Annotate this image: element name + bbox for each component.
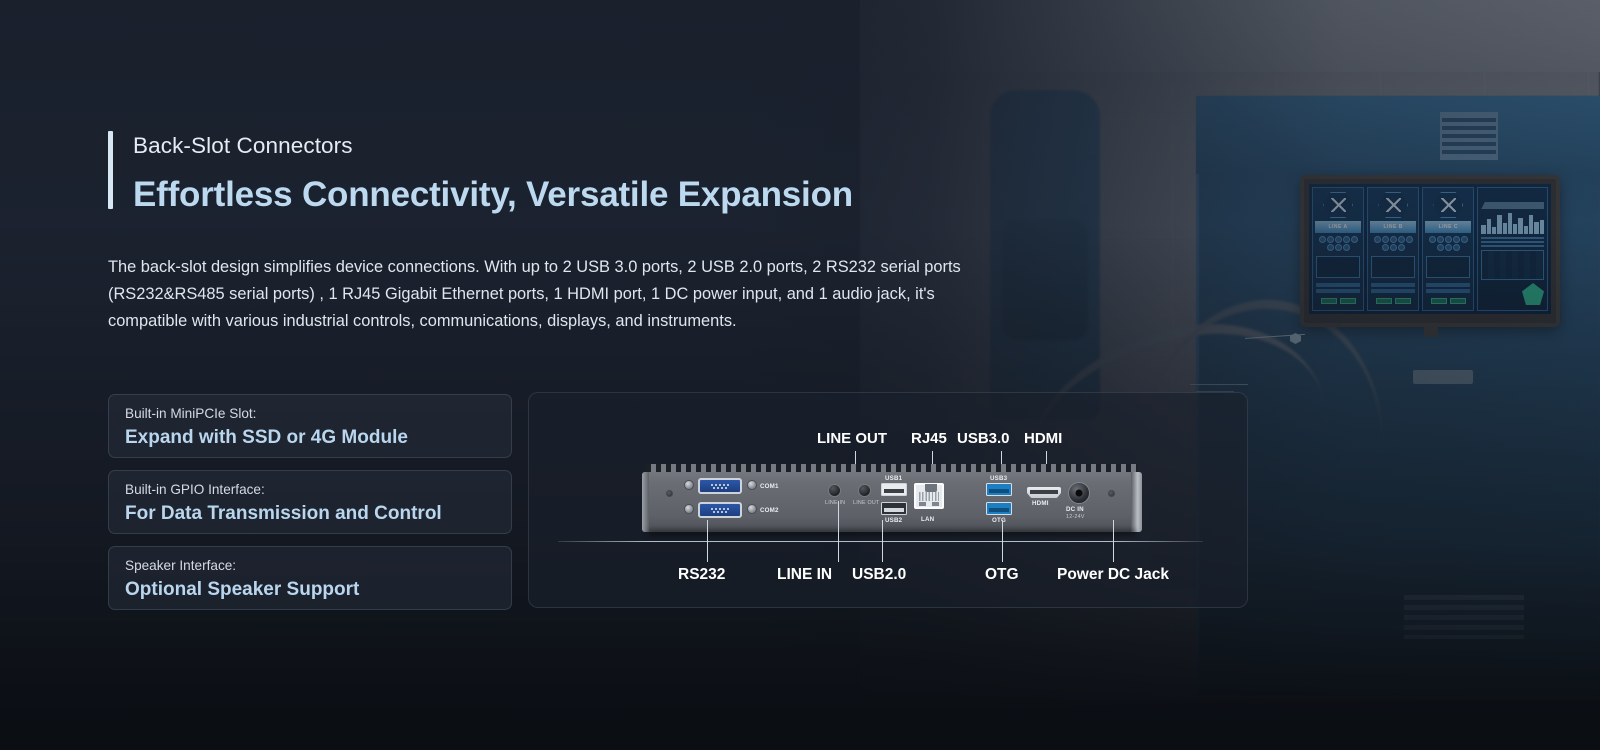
audio-jack-line-in bbox=[828, 484, 841, 497]
leader-line-line-in bbox=[838, 501, 839, 562]
callout-label-usb30: USB3.0 bbox=[957, 430, 1010, 447]
usb-port-usb3 bbox=[986, 483, 1012, 496]
feature-card-title: For Data Transmission and Control bbox=[125, 503, 511, 526]
page-title: Effortless Connectivity, Versatile Expan… bbox=[133, 177, 853, 212]
com1-screw-left bbox=[684, 480, 694, 490]
leader-line-power-dc-jack bbox=[1113, 520, 1114, 562]
chassis-shadow bbox=[648, 530, 1136, 535]
port-label-line-out: LINE OUT bbox=[853, 500, 879, 506]
port-label-line-in: LINE IN bbox=[825, 500, 845, 506]
chassis-screw-right bbox=[1108, 490, 1115, 497]
callout-label-rj45: RJ45 bbox=[911, 430, 947, 447]
port-label-usb3: USB3 bbox=[990, 475, 1007, 482]
feature-card-title: Expand with SSD or 4G Module bbox=[125, 427, 511, 450]
callout-label-hdmi: HDMI bbox=[1024, 430, 1062, 447]
feature-card-subtitle: Speaker Interface: bbox=[125, 558, 511, 575]
accent-bar bbox=[108, 131, 113, 209]
feature-card-speaker[interactable]: Speaker Interface: Optional Speaker Supp… bbox=[108, 546, 512, 610]
callout-label-line-in: LINE IN bbox=[777, 566, 832, 584]
usb-port-usb2 bbox=[881, 502, 907, 515]
serial-port-com2 bbox=[698, 502, 742, 518]
callout-label-rs232: RS232 bbox=[678, 566, 725, 584]
feature-card-subtitle: Built-in GPIO Interface: bbox=[125, 482, 511, 499]
port-label-dcin: DC IN bbox=[1066, 506, 1084, 513]
leader-line-otg bbox=[1002, 520, 1003, 562]
callout-label-power-dc-jack: Power DC Jack bbox=[1057, 566, 1169, 584]
port-label-hdmi: HDMI bbox=[1032, 500, 1049, 507]
port-label-usb1: USB1 bbox=[885, 475, 902, 482]
leader-line-rs232 bbox=[707, 520, 708, 562]
device-rear-panel: COM1 COM2 LINE IN LINE OUT USB1 USB2 bbox=[642, 464, 1142, 536]
usb-port-otg bbox=[986, 502, 1012, 515]
section-description: The back-slot design simplifies device c… bbox=[108, 254, 1008, 335]
port-label-otg: OTG bbox=[992, 517, 1006, 524]
com2-screw-left bbox=[684, 504, 694, 514]
port-label-lan: LAN bbox=[921, 516, 934, 523]
audio-jack-line-out bbox=[858, 484, 871, 497]
feature-card-title: Optional Speaker Support bbox=[125, 579, 511, 602]
chassis-right-edge bbox=[1131, 472, 1142, 532]
chassis-left-edge bbox=[642, 472, 649, 532]
leader-line-usb20 bbox=[882, 520, 883, 562]
dc-power-jack bbox=[1068, 482, 1090, 504]
com1-screw-right bbox=[747, 480, 757, 490]
port-label-usb2: USB2 bbox=[885, 517, 902, 524]
callout-baseline bbox=[558, 541, 1203, 542]
hero-section: LINE A LINE B bbox=[0, 0, 1600, 750]
heading-block: Back-Slot Connectors Effortless Connecti… bbox=[108, 131, 853, 212]
feature-card-gpio[interactable]: Built-in GPIO Interface: For Data Transm… bbox=[108, 470, 512, 534]
callout-label-otg: OTG bbox=[985, 566, 1019, 584]
callout-label-line-out: LINE OUT bbox=[817, 430, 887, 447]
port-label-com1: COM1 bbox=[760, 483, 779, 490]
hdmi-port bbox=[1027, 487, 1061, 498]
com2-screw-right bbox=[747, 504, 757, 514]
port-label-com2: COM2 bbox=[760, 507, 779, 514]
feature-card-minipcie[interactable]: Built-in MiniPCIe Slot: Expand with SSD … bbox=[108, 394, 512, 458]
section-eyebrow: Back-Slot Connectors bbox=[133, 131, 853, 158]
callout-label-usb20: USB2.0 bbox=[852, 566, 906, 584]
usb-port-usb1 bbox=[881, 483, 907, 496]
serial-port-com1 bbox=[698, 478, 742, 494]
feature-card-list: Built-in MiniPCIe Slot: Expand with SSD … bbox=[108, 394, 512, 622]
hero-content: Back-Slot Connectors Effortless Connecti… bbox=[0, 0, 1600, 750]
chassis-screw-left bbox=[666, 490, 673, 497]
ethernet-port-lan bbox=[914, 483, 944, 509]
feature-card-subtitle: Built-in MiniPCIe Slot: bbox=[125, 406, 511, 423]
port-label-dcin-range: 12-24V bbox=[1066, 514, 1085, 520]
